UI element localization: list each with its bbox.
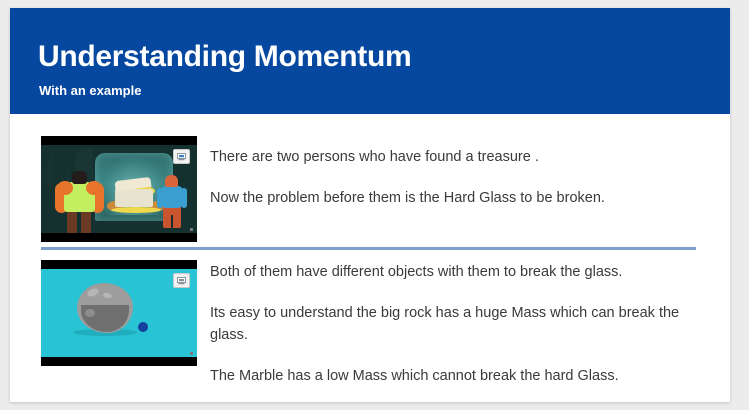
paragraph: Both of them have different objects with…	[210, 261, 708, 283]
slide-body: There are two persons who have found a t…	[10, 114, 730, 402]
thumbnail-corner-marker	[190, 352, 193, 355]
cave-scene	[41, 145, 197, 233]
presentation-icon[interactable]	[173, 273, 190, 288]
gold-pile-icon	[111, 207, 161, 213]
paragraph: Its easy to understand the big rock has …	[210, 302, 708, 346]
paragraph: Now the problem before them is the Hard …	[210, 187, 708, 209]
rock-texture	[85, 309, 95, 317]
marble-icon	[138, 322, 148, 332]
rock-marble-scene	[41, 269, 197, 357]
page-title: Understanding Momentum	[38, 40, 411, 74]
thumbnail-corner-marker	[190, 228, 193, 231]
presentation-icon[interactable]	[173, 149, 190, 164]
page-subtitle: With an example	[39, 83, 141, 98]
paragraph: The Marble has a low Mass which cannot b…	[210, 365, 708, 387]
content-section-2: Both of them have different objects with…	[10, 257, 730, 402]
section-divider	[41, 247, 696, 250]
presentation-glyph	[177, 277, 186, 285]
paragraph: There are two persons who have found a t…	[210, 146, 708, 168]
section-2-text: Both of them have different objects with…	[210, 261, 708, 387]
slide-header: Understanding Momentum With an example	[10, 8, 730, 114]
presentation-glyph	[177, 153, 186, 161]
slide-card: Understanding Momentum With an example	[10, 8, 730, 402]
section-1-text: There are two persons who have found a t…	[210, 146, 708, 209]
content-section-1: There are two persons who have found a t…	[10, 128, 730, 244]
rock-and-marble-illustration[interactable]	[41, 260, 197, 366]
cave-treasure-illustration[interactable]	[41, 136, 197, 242]
treasure-chest-icon	[115, 189, 153, 207]
